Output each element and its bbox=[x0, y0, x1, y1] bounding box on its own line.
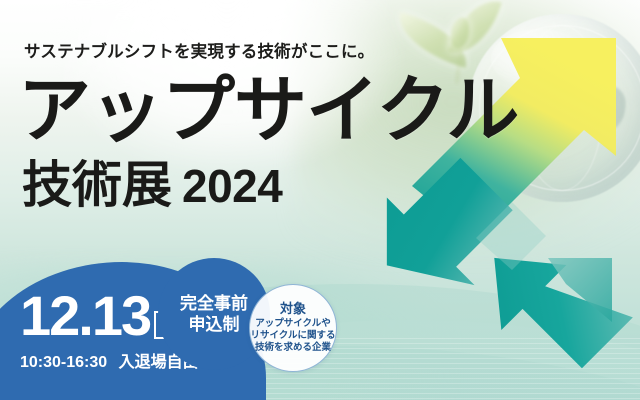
tagline: サステナブルシフトを実現する技術がここに。 bbox=[24, 38, 374, 62]
page-subtitle-text: 技術展 bbox=[22, 160, 172, 210]
event-date-day: 12.13 bbox=[20, 290, 150, 342]
page-subtitle: 技術展 2024 bbox=[22, 160, 282, 210]
event-time: 10:30-16:30 bbox=[20, 354, 107, 371]
event-banner: サステナブルシフトを実現する技術がここに。 アップサイクル 技術展 2024 1… bbox=[0, 0, 640, 400]
badge-target-audience: 対象 アップサイクルや リサイクルに関する 技術を求める企業 bbox=[249, 284, 337, 372]
badge-target-heading: 対象 bbox=[280, 302, 306, 316]
page-subtitle-year: 2024 bbox=[182, 163, 282, 209]
badge-advance-registration-line1: 完全事前 bbox=[180, 293, 248, 314]
badge-target-line1: アップサイクルや bbox=[255, 318, 331, 330]
badge-advance-registration-line2: 申込制 bbox=[189, 314, 240, 335]
page-title: アップサイクル bbox=[18, 74, 518, 147]
badge-target-line3: 技術を求める企業 bbox=[255, 342, 331, 354]
badge-target-line2: リサイクルに関する bbox=[250, 330, 335, 342]
